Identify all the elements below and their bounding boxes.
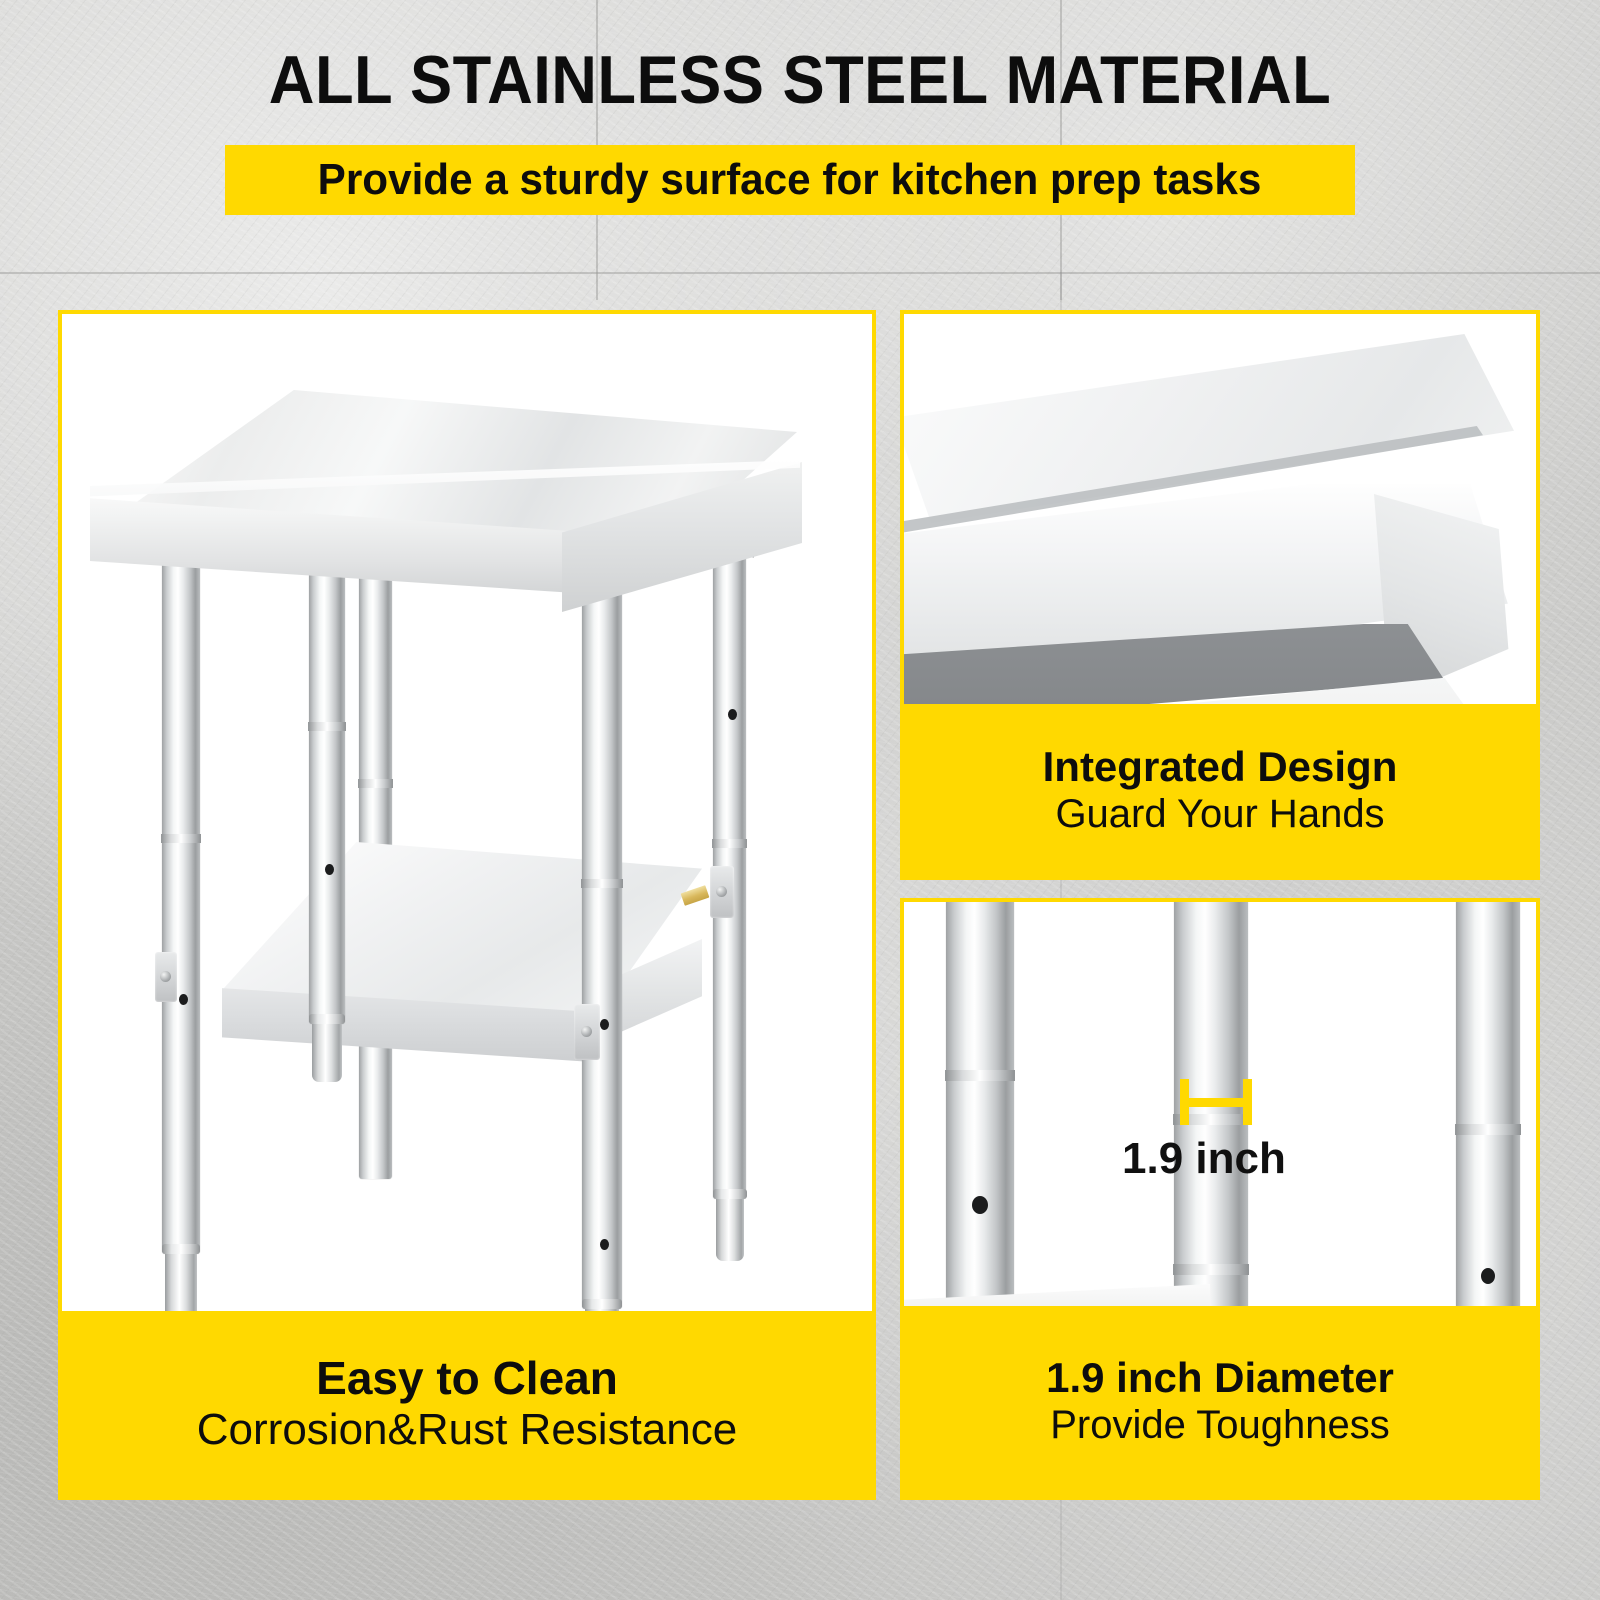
- caption-leg-diameter-closeup: 1.9 inch Diameter Provide Toughness: [904, 1306, 1536, 1496]
- table-leg-back-right: [713, 509, 746, 1199]
- dimension-bracket-horizontal: [1180, 1098, 1252, 1107]
- leg-bracket-back-right: [710, 866, 734, 918]
- panel-tabletop-edge-closeup: Integrated Design Guard Your Hands: [900, 310, 1540, 880]
- page-title: ALL STAINLESS STEEL MATERIAL: [56, 46, 1544, 114]
- dimension-bracket-cap-right: [1243, 1079, 1252, 1125]
- leg-bracket-front-right: [574, 1004, 600, 1060]
- dimension-bracket-cap-left: [1180, 1079, 1189, 1125]
- caption-full-product-view: Easy to Clean Corrosion&Rust Resistance: [62, 1311, 872, 1496]
- table-leg-front-right: [582, 549, 622, 1309]
- closeup-leg-right: [1456, 902, 1520, 1316]
- caption-subline: Guard Your Hands: [1055, 793, 1384, 835]
- panel-leg-diameter-closeup: 1.9 inch 1.9 inch Diameter Provide Tough…: [900, 898, 1540, 1500]
- caption-subline: Provide Toughness: [1050, 1404, 1390, 1446]
- caption-tabletop-edge-closeup: Integrated Design Guard Your Hands: [904, 704, 1536, 876]
- subtitle-text: Provide a sturdy surface for kitchen pre…: [318, 155, 1262, 205]
- table-leg-back-left: [359, 479, 392, 1179]
- table-foot-front-center: [312, 1014, 342, 1082]
- table-foot-back-right: [716, 1189, 744, 1261]
- table-leg-front-left: [162, 514, 200, 1254]
- tile-seam-horizontal: [0, 272, 1600, 274]
- caption-headline: Integrated Design: [1043, 745, 1398, 789]
- caption-subline: Corrosion&Rust Resistance: [197, 1407, 737, 1453]
- caption-headline: Easy to Clean: [316, 1354, 618, 1402]
- subtitle-banner: Provide a sturdy surface for kitchen pre…: [225, 145, 1355, 215]
- caption-headline: 1.9 inch Diameter: [1046, 1356, 1394, 1400]
- leg-bracket-front-left: [155, 952, 177, 1002]
- infographic-page: ALL STAINLESS STEEL MATERIAL Provide a s…: [0, 0, 1600, 1600]
- closeup-leg-left: [946, 902, 1014, 1316]
- panel-full-product-view: Easy to Clean Corrosion&Rust Resistance: [58, 310, 876, 1500]
- dimension-label-text: 1.9 inch: [1122, 1134, 1286, 1184]
